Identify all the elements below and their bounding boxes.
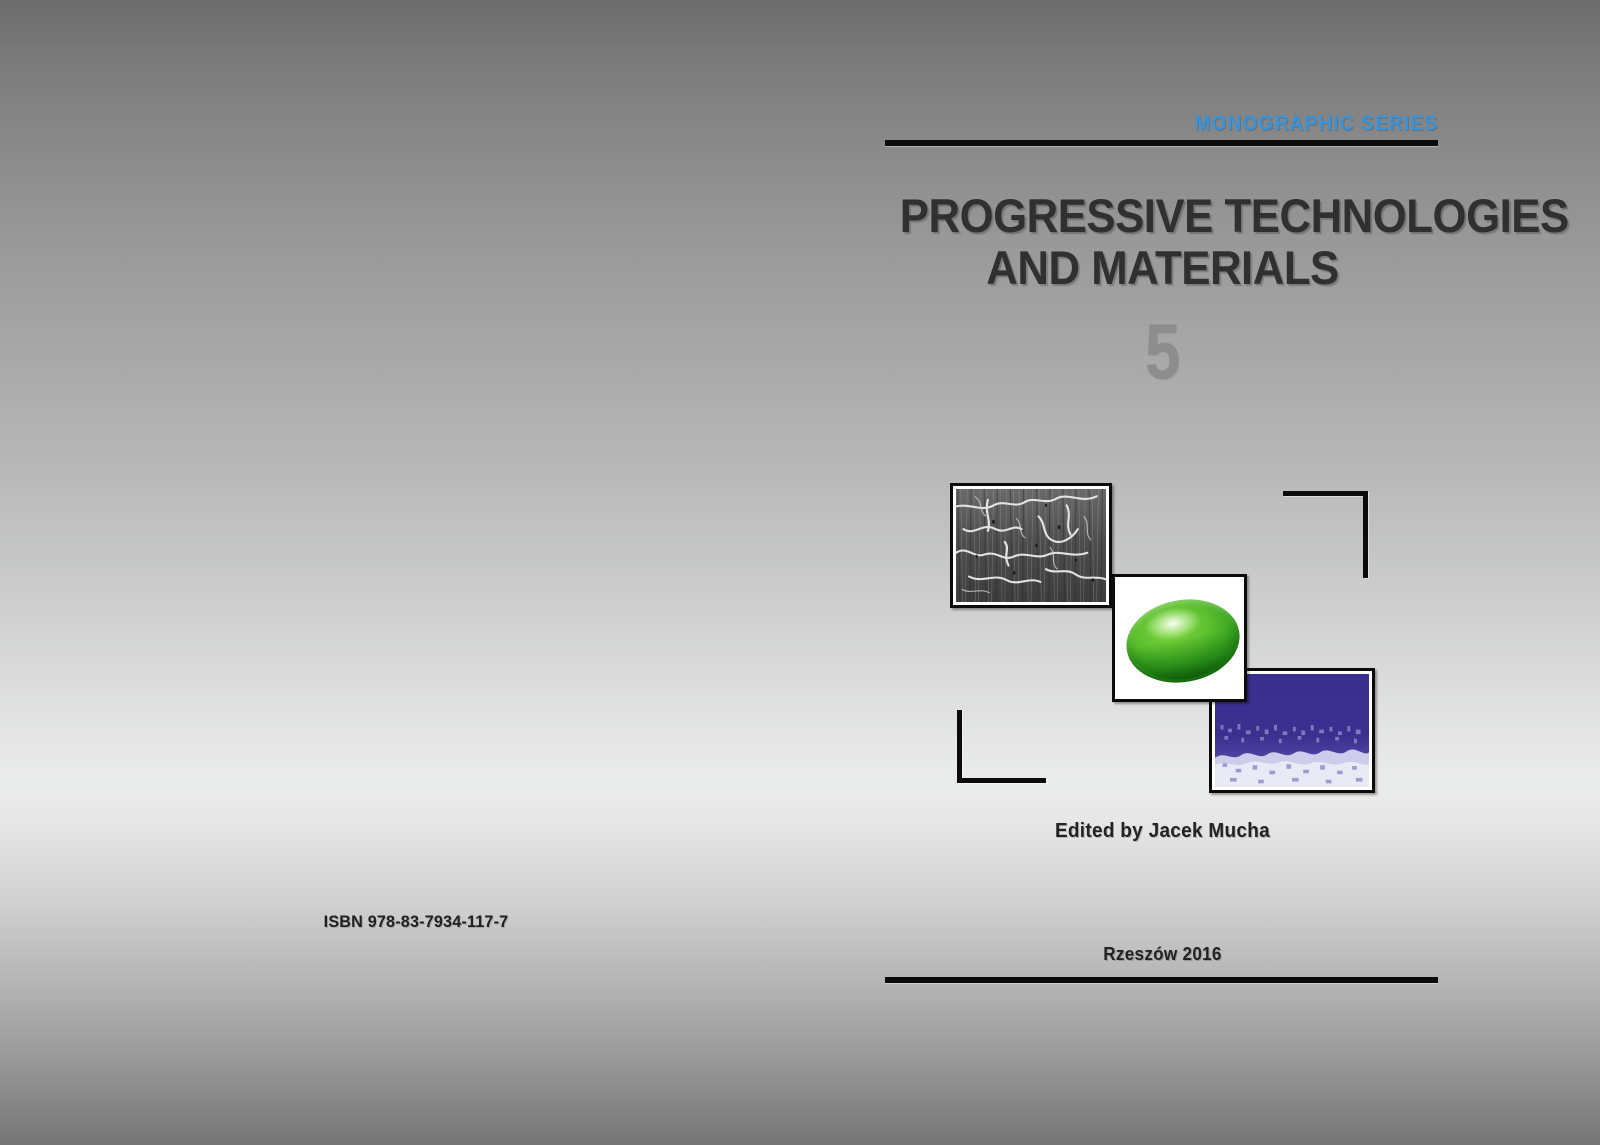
bottom-left-bracket-horizontal (957, 778, 1046, 783)
micrograph-svg (956, 489, 1106, 602)
panel-micrograph (950, 483, 1112, 608)
editor-credit: Edited by Jacek Mucha (894, 820, 1431, 843)
green-ellipsoid-shape (1120, 591, 1241, 692)
panel-micrograph-image (956, 489, 1106, 602)
cover-collage (0, 0, 1600, 1145)
rule-bottom (885, 977, 1438, 983)
top-right-bracket-horizontal (1283, 491, 1368, 496)
top-right-bracket-vertical (1363, 491, 1368, 578)
panel-ellipsoid-image (1118, 580, 1241, 696)
bottom-left-bracket-vertical (957, 710, 962, 783)
book-cover: ISBN 978-83-7934-117-7 MONOGRAPHIC SERIE… (0, 0, 1600, 1145)
place-year: Rzeszów 2016 (894, 944, 1431, 965)
panel-ellipsoid (1112, 574, 1247, 702)
